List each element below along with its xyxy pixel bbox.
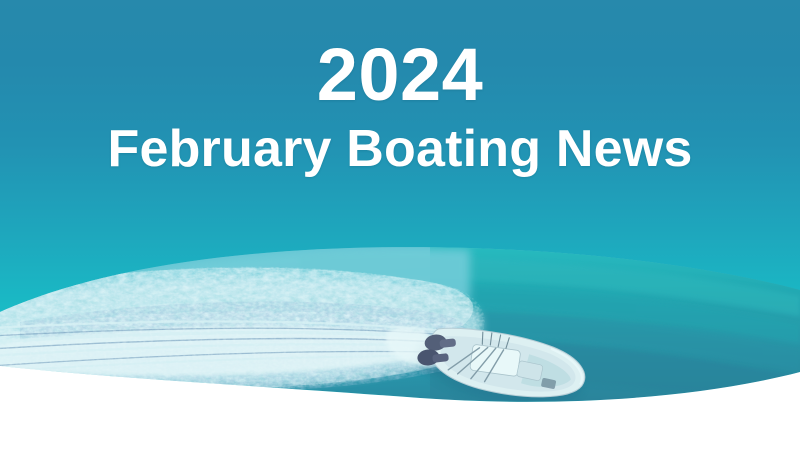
hero-photo-svg (0, 0, 800, 450)
white-footer-left (0, 366, 100, 450)
hero-photo (0, 0, 800, 450)
boating-news-banner: 2024 February Boating News Aerial view o… (0, 0, 800, 450)
